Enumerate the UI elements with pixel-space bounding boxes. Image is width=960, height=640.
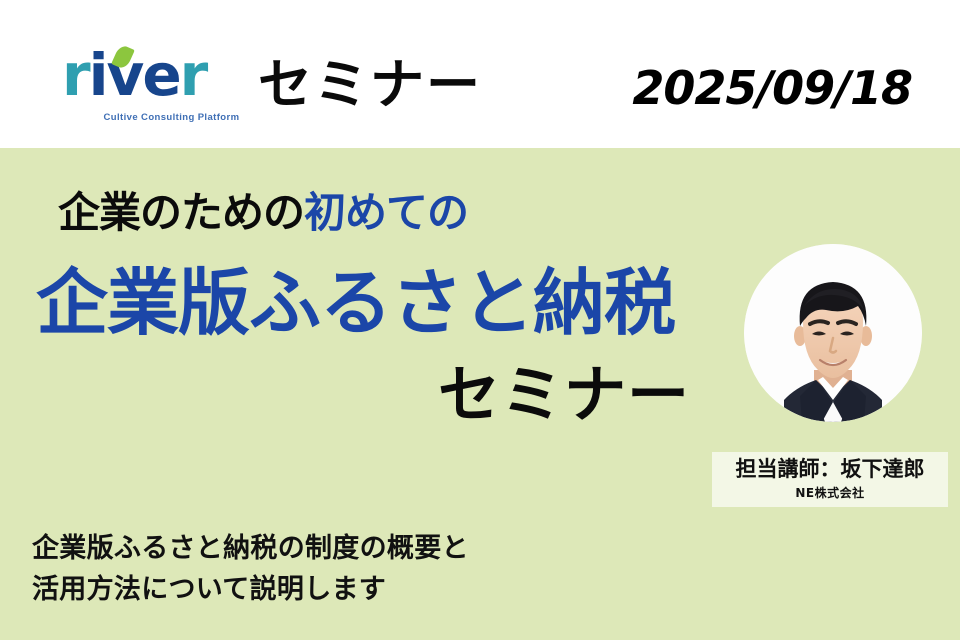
header-bar: river Cultive Consulting Platform セミナー 2… — [0, 0, 960, 148]
title-line-1: 企業のための初めての — [58, 186, 468, 240]
description-line-2: 活用方法について説明します — [32, 569, 469, 610]
title-line-2: 企業版ふるさと納税 — [36, 258, 675, 348]
river-logo[interactable]: river Cultive Consulting Platform — [62, 44, 252, 130]
logo-letter-r1: r — [62, 41, 89, 109]
portrait-illustration — [744, 244, 922, 422]
speaker-caption: 担当講師：坂下達郎 NE株式会社 — [712, 452, 948, 507]
description-text: 企業版ふるさと納税の制度の概要と 活用方法について説明します — [32, 528, 469, 610]
logo-letter-i: i — [89, 41, 107, 109]
logo-wordmark: river — [62, 44, 252, 106]
header-seminar-label: セミナー — [258, 52, 482, 118]
speaker-portrait — [744, 244, 922, 422]
seminar-poster: river Cultive Consulting Platform セミナー 2… — [0, 0, 960, 640]
event-date: 2025/09/18 — [632, 60, 912, 116]
logo-tagline: Cultive Consulting Platform — [84, 112, 259, 123]
speaker-name: 担当講師：坂下達郎 — [712, 455, 948, 483]
logo-letter-e: e — [142, 41, 179, 109]
title-line-1-black: 企業のための — [58, 188, 304, 237]
title-line-1-blue: 初めての — [304, 188, 468, 237]
speaker-company: NE株式会社 — [712, 483, 948, 503]
logo-letter-r2: r — [180, 41, 207, 109]
title-line-3: セミナー — [390, 356, 690, 434]
description-line-1: 企業版ふるさと納税の制度の概要と — [32, 528, 469, 569]
